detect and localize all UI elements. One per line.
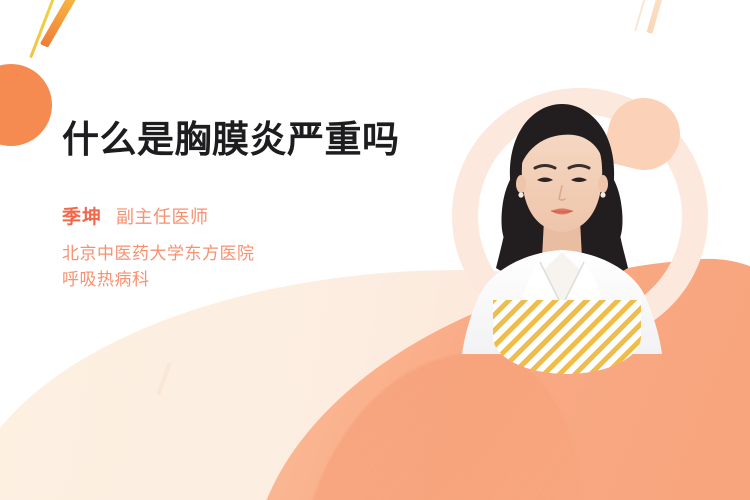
doctor-affiliation: 北京中医药大学东方医院 呼吸热病科 xyxy=(62,241,422,294)
page-title: 什么是胸膜炎严重吗 xyxy=(62,118,422,162)
doctor-byline: 季坤 副主任医师 xyxy=(62,202,422,229)
diagonal-stroke-pale-icon xyxy=(156,362,171,395)
diagonal-stroke-pale-icon xyxy=(634,0,647,31)
diagonal-stroke-orange-icon xyxy=(40,0,81,48)
video-cover-card: 什么是胸膜炎严重吗 季坤 副主任医师 北京中医药大学东方医院 呼吸热病科 xyxy=(0,0,750,500)
salmon-wave-lobe-shape xyxy=(299,336,602,500)
doctor-portrait-photo xyxy=(452,92,672,354)
doctor-name: 季坤 xyxy=(62,202,102,229)
circle-orange-icon xyxy=(0,64,52,146)
diagonal-stroke-yellow-icon xyxy=(29,0,57,58)
doctor-role-title: 副主任医师 xyxy=(116,203,209,229)
text-block: 什么是胸膜炎严重吗 季坤 副主任医师 北京中医药大学东方医院 呼吸热病科 xyxy=(62,118,422,293)
diagonal-stroke-pale-icon xyxy=(647,0,666,34)
